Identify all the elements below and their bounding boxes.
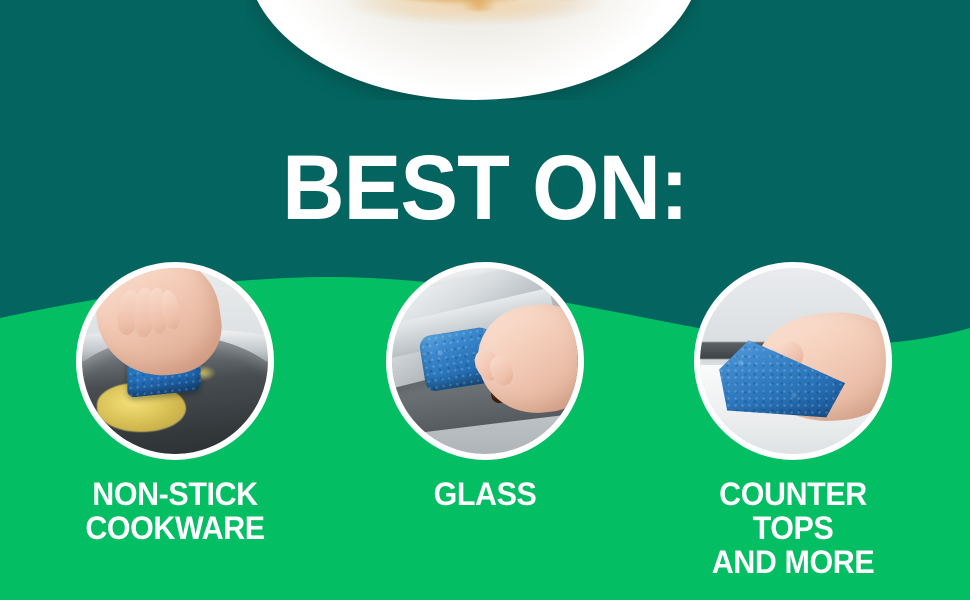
caption-line: NON-STICK — [28, 478, 323, 512]
caption-line: COOKWARE — [28, 512, 323, 546]
feature-non-stick-cookware: NON-STICK COOKWARE — [20, 262, 330, 546]
hand-holding-sponge-on-countertop-photo — [694, 262, 892, 460]
caption-line: AND MORE — [646, 546, 941, 580]
hand-scrubbing-nonstick-pan-photo — [76, 262, 274, 460]
feature-counter-tops-and-more: COUNTER TOPS AND MORE — [638, 262, 948, 580]
caption-line: TOPS — [646, 512, 941, 546]
feature-glass: GLASS — [330, 262, 640, 512]
best-on-banner: BEST ON: — [0, 0, 970, 600]
caption-line: GLASS — [338, 478, 633, 512]
feature-caption: GLASS — [338, 478, 633, 512]
feature-caption: NON-STICK COOKWARE — [28, 478, 323, 546]
feature-caption: COUNTER TOPS AND MORE — [646, 478, 941, 580]
caption-line: COUNTER — [646, 478, 941, 512]
headline-best-on: BEST ON: — [29, 142, 941, 234]
dirty-plate-photo — [246, 0, 702, 100]
hand-cleaning-glass-bakeware-photo — [386, 262, 584, 460]
